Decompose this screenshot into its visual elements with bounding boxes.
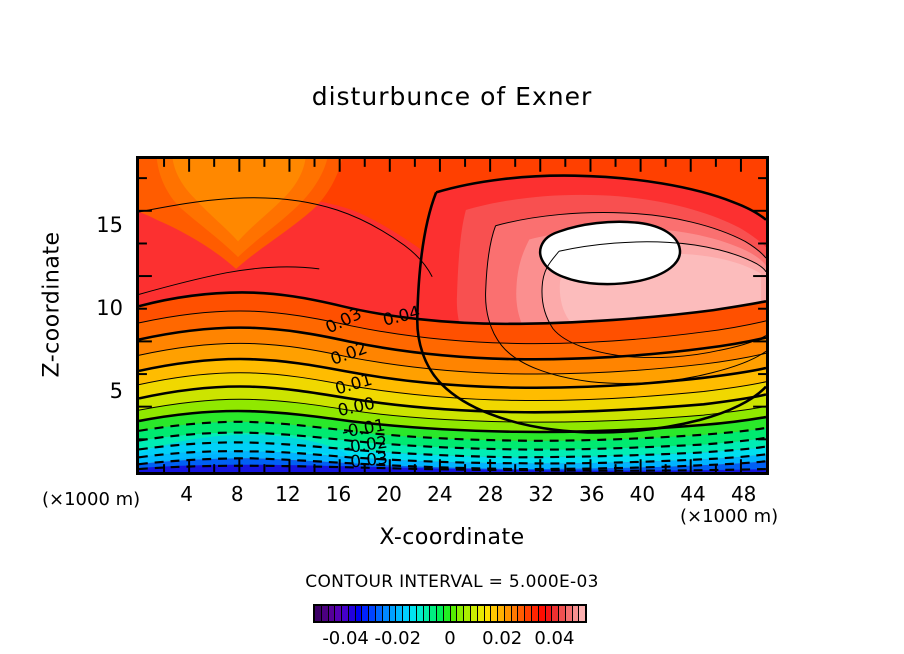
colorbar-legend: -0.04-0.0200.020.04 [313, 604, 587, 623]
colorbar-cell [532, 606, 539, 621]
colorbar-cell [437, 606, 444, 621]
colorbar-cell [518, 606, 525, 621]
colorbar-cell [444, 606, 451, 621]
colorbar-strip [313, 604, 587, 623]
colorbar-cell [315, 606, 322, 621]
x-tick-label: 36 [572, 482, 612, 506]
colorbar-tick-label: -0.04 [316, 628, 376, 649]
colorbar-cell [552, 606, 559, 621]
colorbar-cell [464, 606, 471, 621]
colorbar-cell [417, 606, 424, 621]
page-title: disturbunce of Exner [0, 82, 904, 111]
colorbar-cell [512, 606, 519, 621]
colorbar-tick-label: 0.02 [472, 628, 532, 649]
colorbar-cell [362, 606, 369, 621]
x-tick-label: 20 [369, 482, 409, 506]
x-tick-label: 32 [521, 482, 561, 506]
colorbar-cell [559, 606, 566, 621]
colorbar-cell [505, 606, 512, 621]
y-tick-label: 5 [83, 379, 123, 403]
colorbar-cell [390, 606, 397, 621]
x-axis-title: X-coordinate [0, 525, 904, 550]
contour-interval-note: CONTOUR INTERVAL = 5.000E-03 [0, 572, 904, 592]
colorbar-cell [525, 606, 532, 621]
x-tick-label: 16 [319, 482, 359, 506]
x-tick-label: 44 [673, 482, 713, 506]
colorbar-cell [335, 606, 342, 621]
contour-figure: disturbunce of Exner [0, 0, 904, 654]
x-tick-label: 4 [167, 482, 207, 506]
colorbar-cell [329, 606, 336, 621]
x-tick-label: 24 [420, 482, 460, 506]
y-axis-unit-note: (×1000 m) [42, 489, 140, 510]
x-tick-label: 12 [268, 482, 308, 506]
colorbar-cell [566, 606, 573, 621]
colorbar-cell [403, 606, 410, 621]
colorbar-cell [424, 606, 431, 621]
x-tick-label: 48 [724, 482, 764, 506]
colorbar-cell [410, 606, 417, 621]
colorbar-cell [546, 606, 553, 621]
colorbar-cell [573, 606, 580, 621]
colorbar-cell [498, 606, 505, 621]
plot-area: 0.04 0.03 0.02 0.01 0.00 -0.01 -0.02 -0.… [136, 156, 769, 475]
colorbar-tick-label: -0.02 [368, 628, 428, 649]
colorbar-cell [478, 606, 485, 621]
colorbar-tick-label: 0 [420, 628, 480, 649]
y-tick-label: 15 [83, 213, 123, 237]
x-axis-unit-note: (×1000 m) [680, 506, 778, 527]
colorbar-cell [485, 606, 492, 621]
colorbar-cell [383, 606, 390, 621]
x-tick-label: 40 [622, 482, 662, 506]
y-axis-title: Z-coordinate [40, 210, 65, 400]
colorbar-cell [396, 606, 403, 621]
x-tick-label: 28 [470, 482, 510, 506]
contour-plot-canvas: 0.04 0.03 0.02 0.01 0.00 -0.01 -0.02 -0.… [139, 159, 766, 472]
x-tick-label: 8 [217, 482, 257, 506]
colorbar-tick-label: 0.04 [524, 628, 584, 649]
colorbar-cell [430, 606, 437, 621]
colorbar-cell [349, 606, 356, 621]
colorbar-cell [376, 606, 383, 621]
colorbar-cell [539, 606, 546, 621]
colorbar-cell [322, 606, 329, 621]
y-tick-label: 10 [83, 296, 123, 320]
colorbar-cell [369, 606, 376, 621]
colorbar-cell [579, 606, 585, 621]
colorbar-cell [451, 606, 458, 621]
colorbar-cell [457, 606, 464, 621]
colorbar-cell [356, 606, 363, 621]
colorbar-cell [471, 606, 478, 621]
colorbar-cell [491, 606, 498, 621]
colorbar-cell [342, 606, 349, 621]
